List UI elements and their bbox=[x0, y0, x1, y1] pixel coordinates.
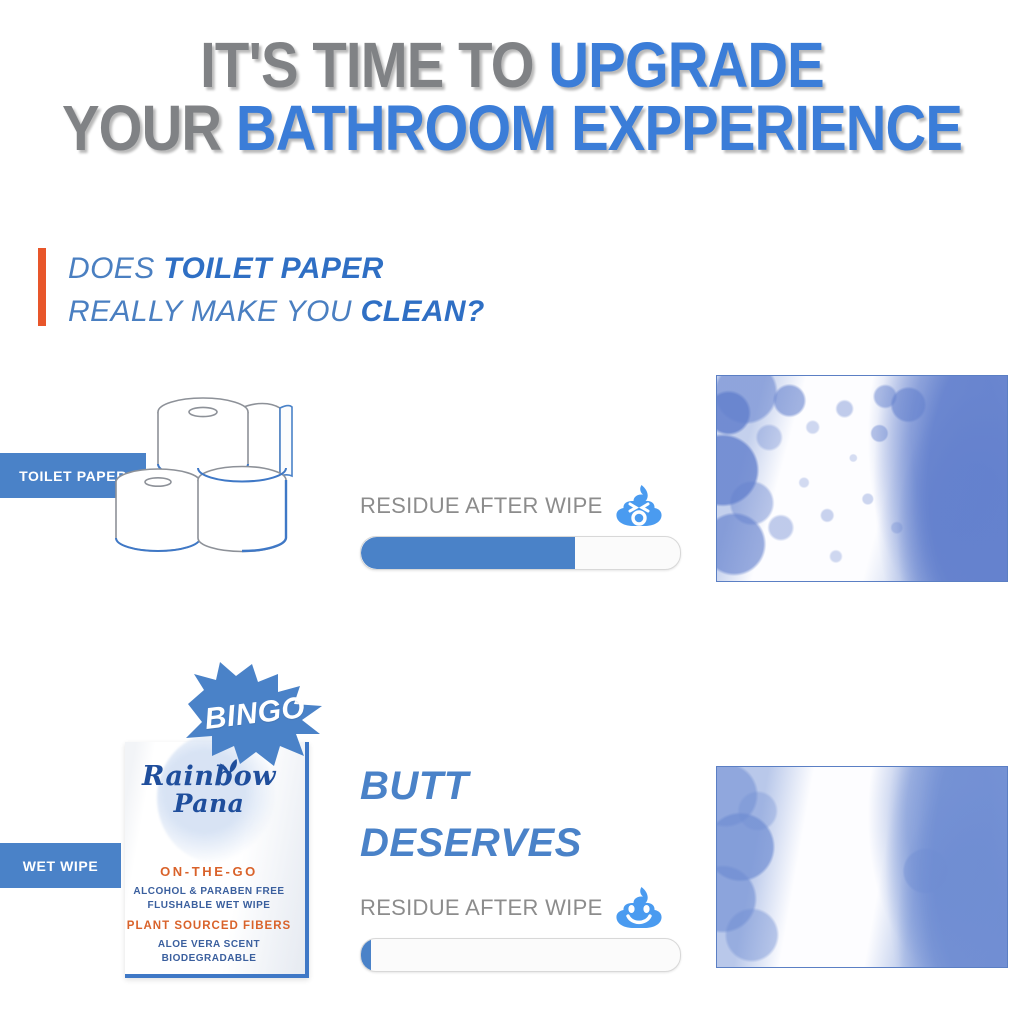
residue-meter-wet-wipe: RESIDUE AFTER WIPE bbox=[360, 888, 690, 972]
subhead-line2-bold: CLEAN? bbox=[361, 295, 485, 328]
subhead: DOES TOILET PAPER REALLY MAKE YOU CLEAN? bbox=[38, 248, 485, 333]
infographic-canvas: IT'S TIME TO UPGRADE YOUR BATHROOM EXPPE… bbox=[0, 0, 1024, 1024]
subhead-text: DOES TOILET PAPER REALLY MAKE YOU CLEAN? bbox=[68, 248, 485, 333]
tab-label-wet-wipe: WET WIPE bbox=[23, 858, 99, 874]
subhead-line-1: DOES TOILET PAPER bbox=[68, 248, 485, 291]
bingo-label: BINGO bbox=[174, 651, 336, 776]
packet-claim1-line1: ALCOHOL & PARABEN FREE bbox=[125, 885, 293, 899]
packet-claim-2: PLANT SOURCED FIBERS bbox=[125, 920, 293, 932]
residue-bar-wet-wipe bbox=[360, 938, 681, 972]
residue-texture-clean bbox=[717, 767, 1007, 967]
toilet-roll-svg bbox=[110, 372, 330, 584]
meter-header-toilet-paper: RESIDUE AFTER WIPE bbox=[360, 486, 690, 526]
meter-header-wet-wipe: RESIDUE AFTER WIPE bbox=[360, 888, 690, 928]
meter-label-toilet-paper: RESIDUE AFTER WIPE bbox=[360, 493, 603, 519]
headline-line-1: IT'S TIME TO UPGRADE bbox=[61, 34, 962, 97]
residue-texture-heavy bbox=[717, 376, 1007, 581]
page-title: IT'S TIME TO UPGRADE YOUR BATHROOM EXPPE… bbox=[61, 34, 962, 159]
poop-sad-icon bbox=[615, 484, 663, 528]
packet-claim-3: ALOE VERA SCENT BIODEGRADABLE bbox=[125, 938, 293, 965]
residue-bar-fill-toilet-paper bbox=[361, 537, 575, 569]
packet-tagline: ON-THE-GO bbox=[125, 864, 293, 879]
packet-label-content: Rainbow Pana ON-THE-GO ALCOHOL & PARABEN… bbox=[125, 742, 305, 974]
wet-wipe-packet: Rainbow Pana ON-THE-GO ALCOHOL & PARABEN… bbox=[125, 742, 305, 974]
packet-claim3-line1: ALOE VERA SCENT bbox=[125, 938, 293, 952]
subhead-line1-bold: TOILET PAPER bbox=[163, 252, 383, 285]
big-copy: BUTT DESERVES bbox=[360, 758, 582, 872]
residue-bar-fill-wet-wipe bbox=[361, 939, 371, 971]
headline-line-2: YOUR BATHROOM EXPPERIENCE bbox=[61, 97, 962, 160]
result-photo-wet-wipe bbox=[716, 766, 1008, 968]
residue-bar-toilet-paper bbox=[360, 536, 681, 570]
poop-happy-icon bbox=[615, 886, 663, 930]
meter-label-wet-wipe: RESIDUE AFTER WIPE bbox=[360, 895, 603, 921]
big-copy-line-1: BUTT bbox=[360, 758, 582, 815]
subhead-line-2: REALLY MAKE YOU CLEAN? bbox=[68, 291, 485, 334]
subhead-line2-normal: REALLY MAKE YOU bbox=[68, 295, 361, 328]
packet-claim3-line2: BIODEGRADABLE bbox=[125, 952, 293, 966]
packet-brand-line-2: Pana bbox=[125, 792, 293, 816]
headline-line1-gray: IT'S TIME TO bbox=[200, 29, 548, 101]
toilet-paper-rolls-illustration bbox=[110, 372, 330, 584]
headline-line2-gray: YOUR bbox=[62, 92, 236, 164]
packet-claim1-line2: FLUSHABLE WET WIPE bbox=[125, 899, 293, 913]
result-photo-toilet-paper bbox=[716, 375, 1008, 582]
accent-bar bbox=[38, 248, 46, 326]
big-copy-line-2: DESERVES bbox=[360, 815, 582, 872]
packet-claim-1: ALCOHOL & PARABEN FREE FLUSHABLE WET WIP… bbox=[125, 885, 293, 912]
headline-line1-blue: UPGRADE bbox=[548, 29, 823, 101]
subhead-line1-normal: DOES bbox=[68, 252, 163, 285]
headline-line2-blue: BATHROOM EXPPERIENCE bbox=[236, 92, 962, 164]
residue-meter-toilet-paper: RESIDUE AFTER WIPE bbox=[360, 486, 690, 570]
section-tab-wet-wipe: WET WIPE bbox=[0, 843, 121, 888]
bingo-badge: BINGO bbox=[180, 660, 330, 768]
